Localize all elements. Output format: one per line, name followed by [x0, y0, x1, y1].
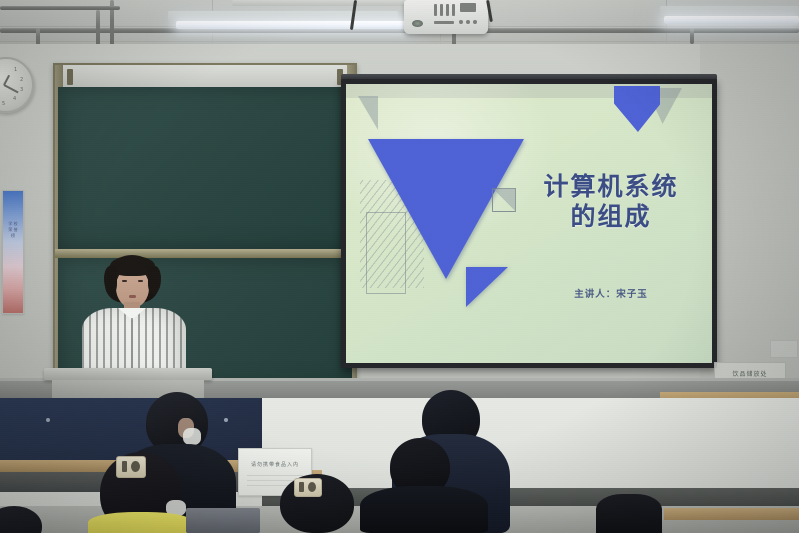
ceiling-seam [0, 41, 799, 42]
lectern-top [44, 368, 212, 380]
blackboard-panel-upper [58, 87, 352, 249]
noticeboard-stud [224, 418, 228, 422]
slide-corner-pentagon-shape [614, 86, 660, 132]
fluorescent-tube-right [664, 16, 799, 24]
desk-surface [664, 508, 799, 520]
fluorescent-tube-left [176, 21, 410, 29]
ceiling-pipe-drop [690, 28, 694, 44]
hair-clip-inlay [122, 461, 127, 472]
slide-grey-triangle-shape [358, 96, 378, 130]
wall-mounted-box [770, 340, 798, 358]
student-torso [360, 486, 488, 533]
desk-sign-text: 请勿携带食品入内 [239, 461, 311, 468]
clock-number: 1 [14, 67, 17, 73]
presenter-eye [138, 280, 143, 282]
projector-vent [446, 4, 449, 16]
front-noticeboard [0, 398, 262, 460]
projector-indicator [459, 20, 463, 24]
slide-title-line-1: 计算机系统 [522, 172, 700, 202]
clock-hand-minute [4, 84, 19, 93]
projection-screen[interactable]: 计算机系统 的组成 主讲人：宋子玉 [346, 84, 712, 363]
slide-title-line-2: 的组成 [522, 202, 700, 232]
noticeboard-stud [46, 418, 50, 422]
clock-number: 2 [20, 77, 23, 83]
front-white-wall [262, 398, 799, 490]
presenter-mouth [129, 295, 136, 298]
hair-clip [294, 478, 322, 497]
wall-sign-text: 饮品储放处 [715, 369, 785, 378]
projector-vent [434, 21, 454, 24]
projector-vent [434, 4, 437, 16]
student-top [88, 512, 194, 533]
blackboard-middle-rail [55, 249, 355, 258]
desk-sign-rule [247, 475, 303, 476]
wall-poster: 学 校 荣 誉 榜 [2, 190, 24, 314]
hair-clip-inlay [308, 482, 316, 492]
student-torso [596, 494, 662, 533]
projector-lens [412, 20, 423, 27]
clock-number: 3 [20, 87, 23, 93]
clock-hand-hour [3, 75, 10, 86]
presenter-hair-side [104, 266, 117, 294]
hair-clip-inlay [131, 461, 140, 472]
laptop[interactable] [186, 508, 260, 533]
projector-vent [452, 4, 455, 16]
projector-vent [440, 4, 443, 16]
hair-clip-inlay [299, 482, 304, 492]
face-mask [183, 428, 201, 445]
clock-number: 5 [2, 101, 5, 107]
classroom-scene: 1 2 3 4 5 学 校 荣 誉 榜 [0, 0, 799, 533]
clock-number: 4 [13, 96, 16, 102]
wall-poster-text: 学 校 荣 誉 榜 [8, 221, 18, 239]
slide-presenter-label: 主讲人：宋子玉 [522, 286, 700, 300]
projector-indicator [473, 20, 477, 24]
slide-outlined-square-shape [492, 188, 516, 212]
ceiling-projector[interactable] [404, 0, 488, 34]
presenter-eye [122, 280, 127, 282]
blackboard-valance [55, 65, 355, 87]
ceiling-pipe [0, 6, 120, 10]
blackboard-hinge [67, 69, 73, 85]
projector-vent [460, 3, 476, 12]
light-housing [232, 0, 432, 6]
slide-small-right-triangle-shape [466, 267, 508, 307]
pearl-hair-clip [116, 456, 146, 478]
presentation-slide[interactable]: 计算机系统 的组成 主讲人：宋子玉 [346, 84, 712, 363]
projector-indicator [466, 20, 470, 24]
slide-title: 计算机系统 的组成 [522, 172, 700, 232]
